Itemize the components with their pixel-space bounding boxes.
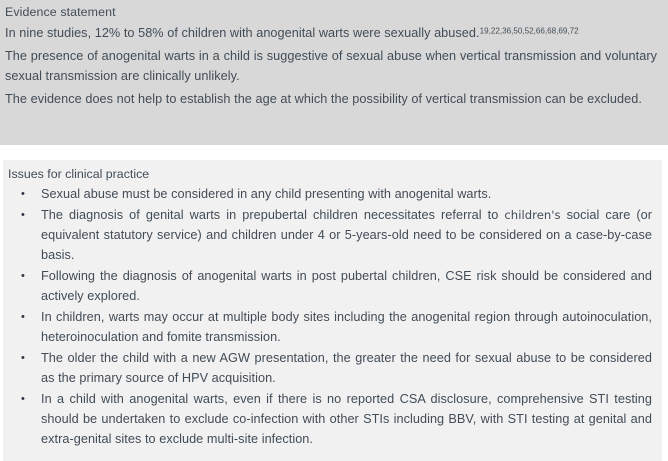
- list-item: Following the diagnosis of anogenital wa…: [8, 266, 652, 306]
- evidence-paragraph: The presence of anogenital warts in a ch…: [5, 46, 657, 86]
- citation-superscript: 19,22,36,50,52,66,68,69,72: [480, 27, 579, 36]
- document-page: Evidence statement In nine studies, 12% …: [0, 0, 668, 461]
- list-item: The diagnosis of genital warts in prepub…: [8, 205, 652, 265]
- list-item-text: Sexual abuse must be considered in any c…: [41, 187, 491, 201]
- list-item: The older the child with a new AGW prese…: [8, 348, 652, 388]
- list-item-text: Following the diagnosis of anogenital wa…: [41, 269, 652, 303]
- list-item-text: The older the child with a new AGW prese…: [41, 351, 652, 385]
- list-item-text: In children, warts may occur at multiple…: [41, 310, 652, 344]
- list-item: Sexual abuse must be considered in any c…: [8, 184, 652, 204]
- evidence-statement-heading: Evidence statement: [5, 3, 657, 21]
- list-item: In children, warts may occur at multiple…: [8, 307, 652, 347]
- list-item: In a child with anogenital warts, even i…: [8, 389, 652, 449]
- evidence-paragraph-text: The evidence does not help to establish …: [5, 92, 642, 106]
- issues-heading: Issues for clinical practice: [8, 166, 652, 183]
- evidence-paragraph-text: In nine studies, 12% to 58% of children …: [5, 26, 480, 40]
- issues-bullet-list: Sexual abuse must be considered in any c…: [8, 184, 652, 449]
- list-item-text: In a child with anogenital warts, even i…: [41, 392, 652, 446]
- evidence-paragraph: In nine studies, 12% to 58% of children …: [5, 23, 657, 43]
- list-item-emphasis: children's: [504, 208, 560, 222]
- evidence-paragraph: The evidence does not help to establish …: [5, 89, 657, 109]
- issues-for-clinical-practice-box: Issues for clinical practice Sexual abus…: [3, 160, 662, 461]
- evidence-statement-box: Evidence statement In nine studies, 12% …: [0, 0, 668, 145]
- list-item-text: The diagnosis of genital warts in prepub…: [41, 208, 504, 222]
- evidence-paragraph-text: The presence of anogenital warts in a ch…: [5, 49, 657, 83]
